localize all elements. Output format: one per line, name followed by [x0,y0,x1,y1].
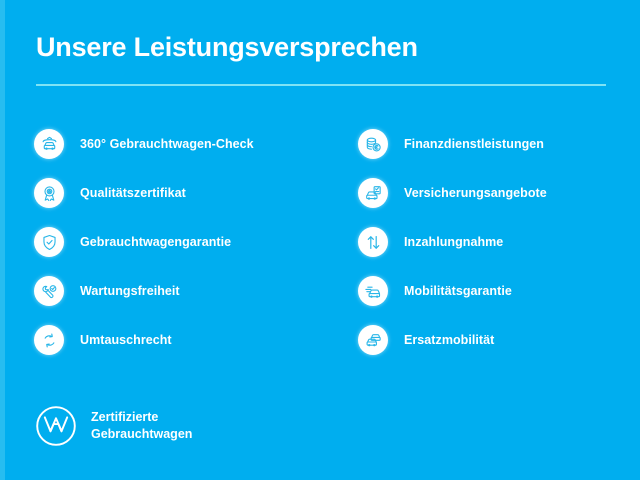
promise-poster: Unsere Leistungsversprechen 360° Gebrauc… [0,0,640,480]
list-item: Wartungsfreiheit [34,267,334,315]
list-item-label: Ersatzmobilität [404,333,494,347]
page-title: Unsere Leistungsversprechen [36,32,418,63]
list-item-label: Inzahlungnahme [404,235,503,249]
vw-logo-icon [34,404,78,448]
list-item: Qualitätszertifikat [34,169,334,217]
award-rosette-icon [34,178,64,208]
car-document-icon [358,178,388,208]
brand-line-2: Gebrauchtwagen [91,427,192,441]
title-divider [36,84,606,86]
list-item: Ersatzmobilität [358,316,640,364]
promises-column-left: 360° Gebrauchtwagen-Check Qualitätszerti… [34,120,334,365]
list-item: Finanzdienstleistungen [358,120,640,168]
list-item-label: Umtauschrecht [80,333,172,347]
coins-euro-icon [358,129,388,159]
list-item-label: Finanzdienstleistungen [404,137,544,151]
list-item-label: Mobilitätsgarantie [404,284,512,298]
list-item: Umtauschrecht [34,316,334,364]
list-item-label: Versicherungsangebote [404,186,547,200]
two-cars-icon [358,325,388,355]
list-item: Mobilitätsgarantie [358,267,640,315]
brand-line-1: Zertifizierte [91,410,158,424]
list-item-label: Qualitätszertifikat [80,186,186,200]
list-item: Gebrauchtwagengarantie [34,218,334,266]
list-item-label: Wartungsfreiheit [80,284,180,298]
list-item-label: 360° Gebrauchtwagen-Check [80,137,254,151]
promises-column-right: Finanzdienstleistungen Versicherungsange… [358,120,640,365]
up-down-arrows-icon [358,227,388,257]
list-item-label: Gebrauchtwagengarantie [80,235,231,249]
brand-text: Zertifizierte Gebrauchtwagen [91,409,192,443]
shield-check-icon [34,227,64,257]
list-item: 360° Gebrauchtwagen-Check [34,120,334,168]
car-speed-icon [358,276,388,306]
car-360-check-icon [34,129,64,159]
list-item: Versicherungsangebote [358,169,640,217]
promises-grid: 360° Gebrauchtwagen-Check Qualitätszerti… [0,120,640,360]
list-item: Inzahlungnahme [358,218,640,266]
brand-lockup: Zertifizierte Gebrauchtwagen [34,404,192,448]
exchange-arrows-icon [34,325,64,355]
wrench-check-icon [34,276,64,306]
